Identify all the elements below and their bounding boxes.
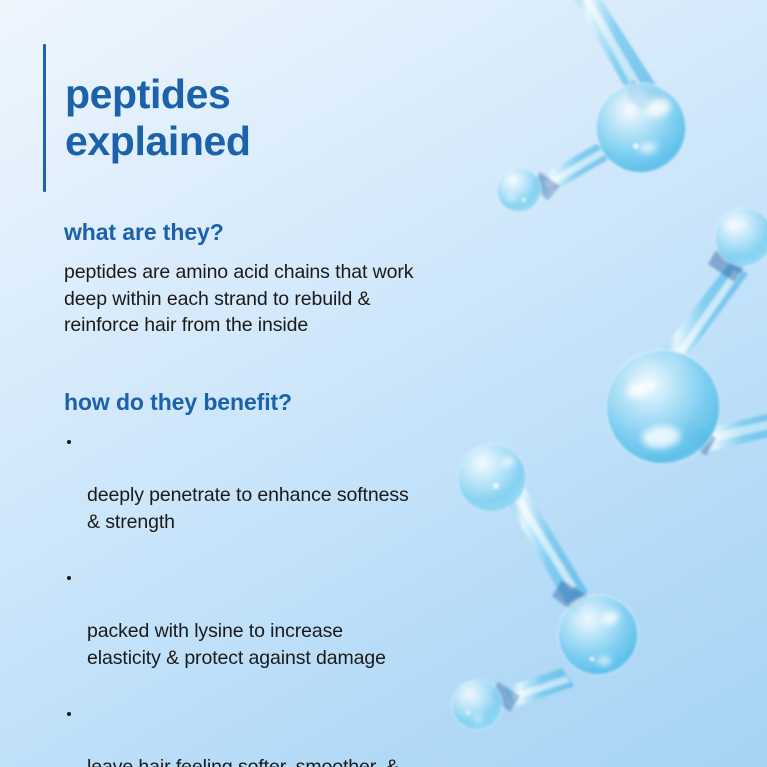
section-body-what-are-they: peptides are amino acid chains that work… [64, 259, 484, 339]
list-item: packed with lysine to increase elasticit… [64, 565, 484, 671]
section-heading-what-are-they: what are they? [64, 219, 484, 246]
list-item: deeply penetrate to enhance softness & s… [64, 429, 484, 535]
list-item-label: packed with lysine to increase elasticit… [87, 620, 386, 669]
peptides-explained-poster: peptides explained what are they? peptid… [0, 0, 767, 767]
bullet-dot-icon [67, 576, 71, 580]
benefit-bullet-list: deeply penetrate to enhance softness & s… [64, 429, 484, 767]
list-item-label: leave hair feeling softer, smoother, & e… [87, 756, 399, 767]
list-item-label: deeply penetrate to enhance softness & s… [87, 484, 409, 533]
bullet-dot-icon [67, 440, 71, 444]
poster-title-block: peptides explained [43, 44, 251, 192]
section-what-are-they: what are they? peptides are amino acid c… [64, 219, 484, 339]
page-title: peptides explained [65, 71, 251, 164]
section-heading-how-do-they-benefit: how do they benefit? [64, 389, 484, 416]
bullet-dot-icon [67, 712, 71, 716]
list-item: leave hair feeling softer, smoother, & e… [64, 701, 484, 767]
title-accent-rule [43, 44, 46, 192]
section-how-do-they-benefit: how do they benefit? deeply penetrate to… [64, 389, 484, 767]
